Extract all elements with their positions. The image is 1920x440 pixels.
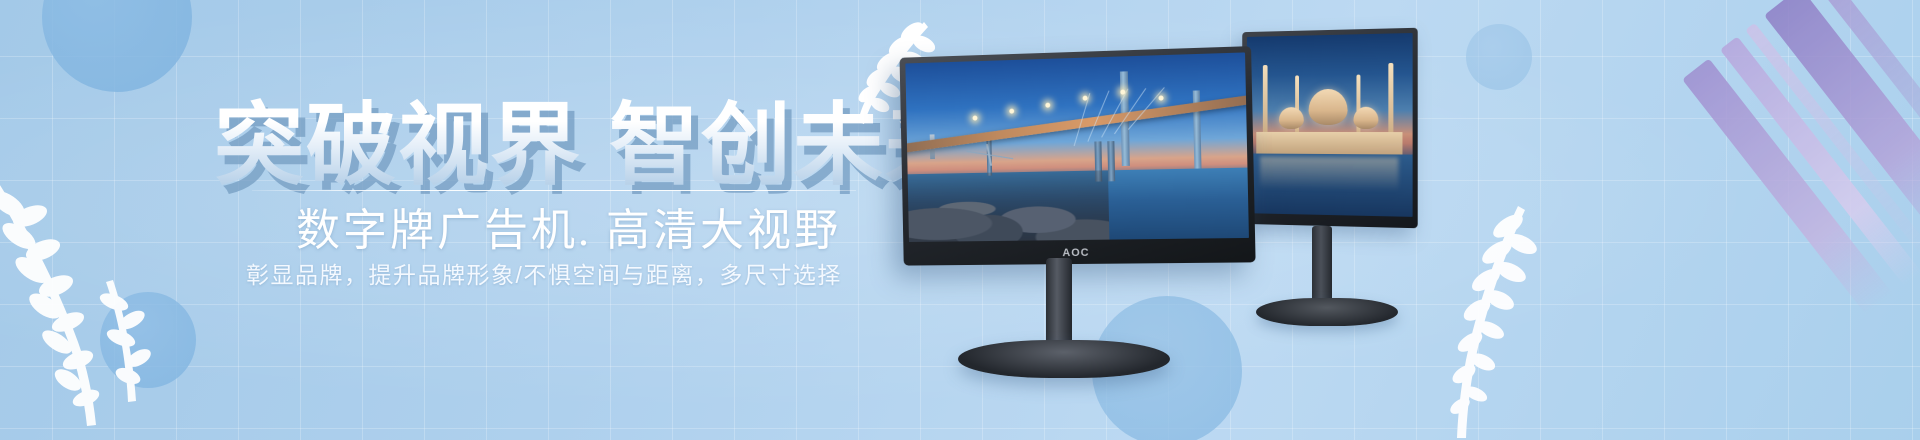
promo-banner: 突破视界 智创未来 数字牌广告机. 高清大视野 彰显品牌，提升品牌形象/不惧空间… [0,0,1920,440]
subtitle: 数字牌广告机. 高清大视野 [296,194,841,258]
monitor-rear [1238,30,1418,330]
mosque-scene-image [1247,33,1413,217]
monitor-rear-bezel [1242,28,1417,229]
monitor-front-screen [905,52,1249,242]
monitor-rear-stand-neck [1312,226,1332,304]
stripe-icon-top-right [1588,0,1920,390]
divider [252,190,856,191]
aoc-logo: AOC [903,245,1255,261]
monitor-front: AOC [896,52,1264,352]
monitor-front-stand-base [958,340,1170,378]
page-title: 突破视界 智创未来 [214,72,977,202]
monitor-front-bezel: AOC [900,46,1256,265]
bridge-scene-image [905,52,1249,242]
monitor-rear-stand-base [1256,298,1398,326]
circle-icon-top-right [1466,24,1532,90]
monitor-front-stand-neck [1046,258,1072,350]
leaf-icon-bottom-right [1398,200,1548,440]
monitor-rear-screen [1247,33,1413,217]
tagline: 彰显品牌，提升品牌形象/不惧空间与距离，多尺寸选择 [246,256,842,290]
text-block: 突破视界 智创未来 数字牌广告机. 高清大视野 彰显品牌，提升品牌形象/不惧空间… [0,0,900,440]
